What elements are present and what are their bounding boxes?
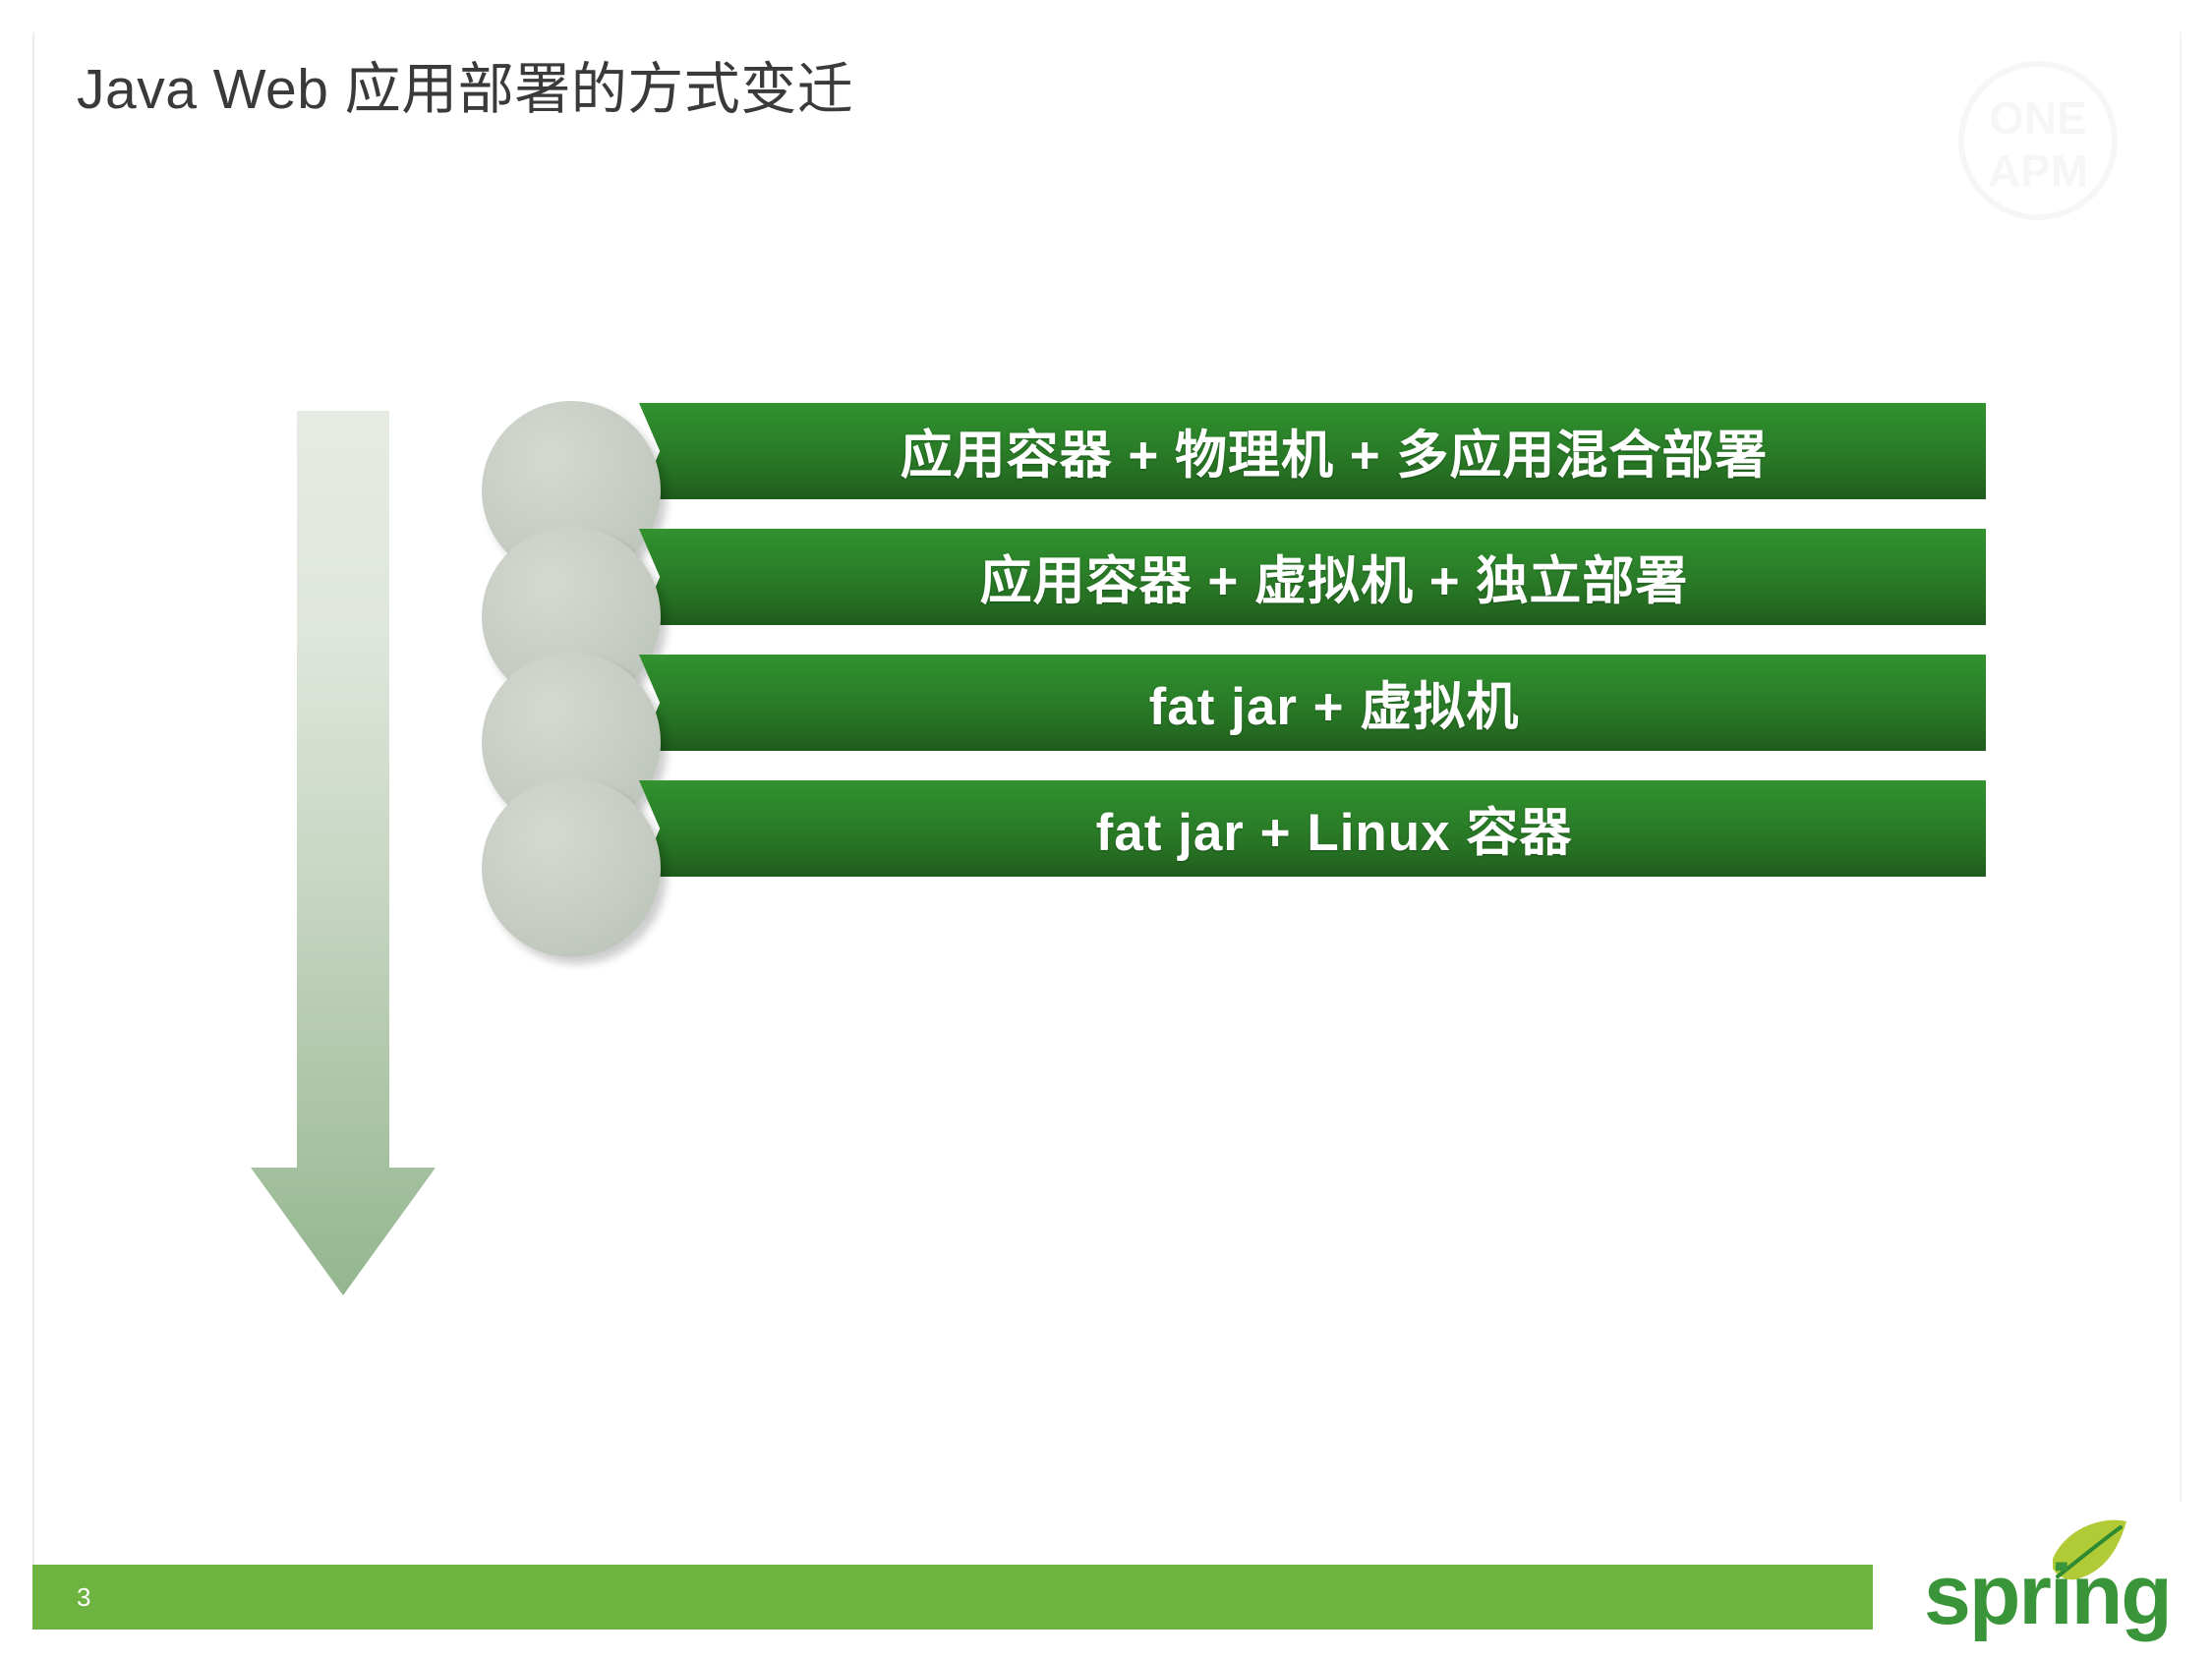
svg-text:spring: spring [1924, 1548, 2171, 1642]
step-bar[interactable]: fat jar + 虚拟机 [639, 655, 1986, 751]
slide-canvas: Java Web 应用部署的方式变迁 ONE APM [0, 0, 2212, 1659]
step-marker-circle [482, 778, 661, 957]
step-label: 应用容器 + 物理机 + 多应用混合部署 [901, 414, 1769, 488]
step-label: fat jar + 虚拟机 [1149, 665, 1520, 740]
step-label: 应用容器 + 虚拟机 + 独立部署 [980, 540, 1689, 614]
page-number: 3 [77, 1584, 90, 1610]
deployment-evolution-steps: 应用容器 + 物理机 + 多应用混合部署 应用容器 + 虚拟机 + 独立部署 f… [0, 0, 2212, 1659]
step-row[interactable]: fat jar + Linux 容器 [482, 780, 1986, 971]
spring-logo: spring [1873, 1502, 2187, 1649]
step-bar[interactable]: 应用容器 + 物理机 + 多应用混合部署 [639, 403, 1986, 499]
step-label: fat jar + Linux 容器 [1096, 791, 1573, 866]
step-bar[interactable]: fat jar + Linux 容器 [639, 780, 1986, 877]
footer-bar [32, 1565, 1873, 1630]
step-bar[interactable]: 应用容器 + 虚拟机 + 独立部署 [639, 529, 1986, 625]
